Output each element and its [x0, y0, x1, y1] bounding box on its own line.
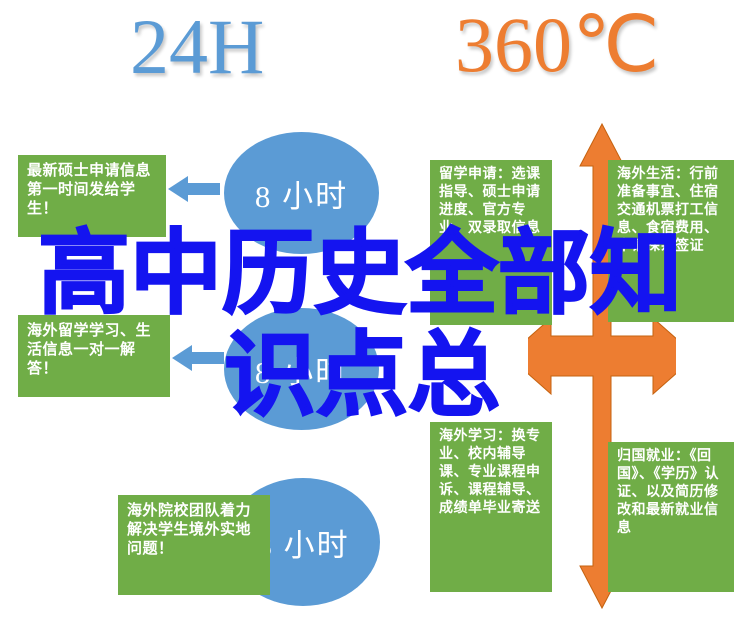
circle-label: 8 小时	[255, 171, 348, 216]
circle-label: 8 小时	[256, 520, 349, 565]
left-arrow-icon-2	[172, 345, 224, 371]
header-label-24h: 24H	[130, 8, 264, 86]
info-box-text: 最新硕士申请信息第一时间发给学生！	[18, 155, 166, 225]
arrow-head	[168, 176, 188, 202]
info-box-left-2: 海外留学学习、生活信息一对一解答！	[18, 315, 170, 397]
infographic-canvas: 24H 360℃ 8 小时 8 小时 8 小时 最新硕士申请信息第一时间发给学生…	[0, 0, 753, 630]
header-label-360c: 360℃	[455, 6, 660, 84]
info-box-text: 归国就业：《回国》、《学历》认证、以及简历修改和最新就业信息	[608, 442, 734, 544]
info-box-middle-2: 海外学习：换专业、校内辅导课、专业课程申诉、课程辅导、成绩单毕业寄送	[430, 422, 552, 592]
info-box-text: 海外院校团队着力解决学生境外实地问题！	[118, 495, 270, 565]
overlay-title-line-2: 识点总	[224, 330, 500, 422]
arrow-shaft	[190, 352, 224, 364]
overlay-title-line-1: 高中历史全部知	[38, 228, 682, 320]
arrow-shaft	[186, 183, 220, 195]
left-arrow-icon-1	[168, 176, 220, 202]
info-box-text: 海外学习：换专业、校内辅导课、专业课程申诉、课程辅导、成绩单毕业寄送	[430, 422, 552, 524]
info-box-right-2: 归国就业：《回国》、《学历》认证、以及简历修改和最新就业信息	[608, 442, 734, 592]
arrow-head	[172, 345, 192, 371]
info-box-left-3: 海外院校团队着力解决学生境外实地问题！	[118, 495, 270, 595]
